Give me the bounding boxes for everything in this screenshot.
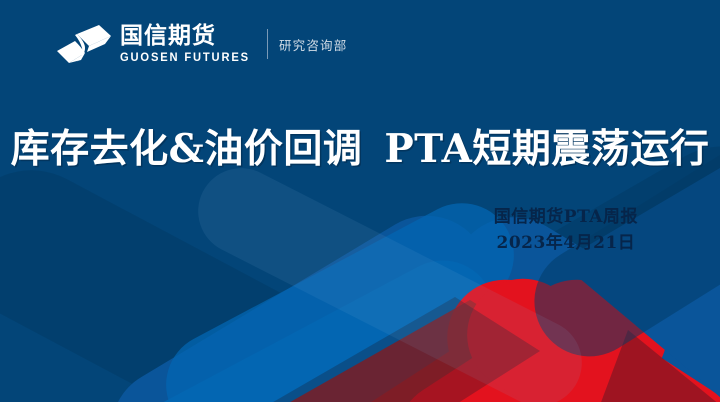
report-name: 国信期货PTA周报 bbox=[494, 204, 638, 230]
page-title: 库存去化&油价回调PTA短期震荡运行 bbox=[0, 126, 720, 172]
brand-name-en: GUOSEN FUTURES bbox=[120, 51, 250, 65]
subtitle-block: 国信期货PTA周报 2023年4月21日 bbox=[494, 204, 638, 256]
brand-logo-lockup: 国信期货 GUOSEN FUTURES 研究咨询部 bbox=[55, 16, 347, 72]
guosen-futures-logo-mark-icon bbox=[55, 22, 113, 66]
brand-wordmark: 国信期货 GUOSEN FUTURES bbox=[120, 22, 254, 66]
title-part-2: PTA短期震荡运行 bbox=[384, 126, 709, 172]
title-line: 库存去化&油价回调PTA短期震荡运行 bbox=[0, 126, 720, 172]
department-label: 研究咨询部 bbox=[279, 35, 348, 54]
report-date: 2023年4月21日 bbox=[494, 230, 638, 256]
report-cover-slide: 国信期货 GUOSEN FUTURES 研究咨询部 库存去化&油价回调PTA短期… bbox=[0, 0, 720, 405]
title-part-1: 库存去化&油价回调 bbox=[11, 126, 363, 172]
brand-name-cn: 国信期货 bbox=[120, 24, 254, 49]
logo-divider bbox=[267, 29, 268, 59]
